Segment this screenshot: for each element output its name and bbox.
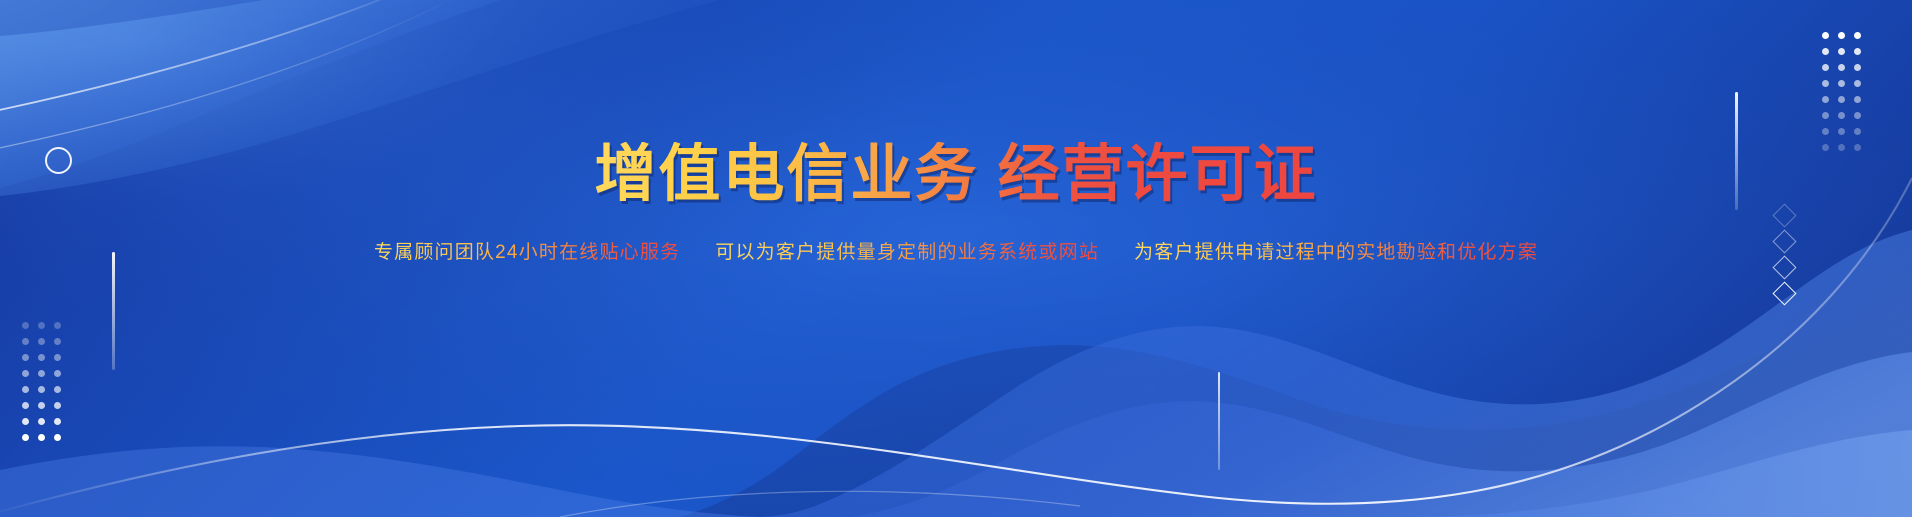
dot-grid-right-icon (1818, 28, 1866, 156)
accent-line-left-icon (112, 252, 115, 370)
circle-outline-icon (45, 147, 72, 174)
accent-line-mid-icon (1218, 372, 1220, 470)
promo-banner: 增值电信业务 经营许可证 专属顾问团队24小时在线贴心服务 可以为客户提供量身定… (0, 0, 1912, 517)
background-wave-art (0, 0, 1912, 517)
accent-line-right-icon (1735, 92, 1738, 210)
dot-grid-left-icon (18, 318, 66, 446)
diamond-column-icon (1776, 198, 1793, 311)
